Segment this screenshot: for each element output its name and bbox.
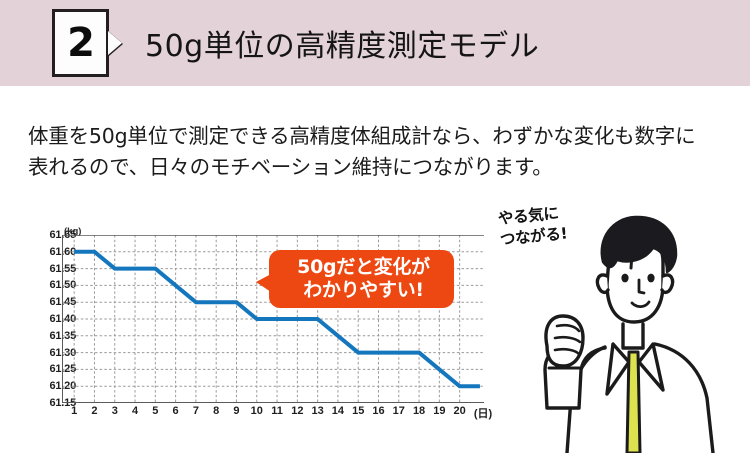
chart-x-tick: 5 [152, 405, 158, 417]
section-header-banner: 2 50g単位の高精度測定モデル [0, 0, 750, 86]
chart-x-tick: 3 [112, 405, 118, 417]
chart-callout-bubble: 50gだと変化が わかりやすい! [269, 250, 454, 308]
chart-x-tick: 9 [233, 405, 239, 417]
step-badge: 2 [52, 9, 109, 77]
chart-x-tick: 4 [132, 405, 138, 417]
callout-tail [256, 274, 271, 292]
chart-x-tick: 18 [413, 405, 425, 417]
chart-x-tick: 7 [193, 405, 199, 417]
chart-x-tick: 13 [312, 405, 324, 417]
chart-x-tick: 10 [251, 405, 263, 417]
arrow-right-icon [108, 31, 122, 55]
chart-x-tick: 6 [173, 405, 179, 417]
chart-x-axis: 1234567891011121314151617181920(日) [62, 405, 484, 423]
chart-x-tick: 17 [393, 405, 405, 417]
chart-x-tick: 19 [433, 405, 445, 417]
step-badge-number: 2 [67, 23, 94, 63]
chart-x-tick: 14 [332, 405, 344, 417]
chart-x-tick: 16 [372, 405, 384, 417]
chart-x-tick: 11 [271, 405, 283, 417]
lead-paragraph: 体重を50g単位で測定できる高精度体組成計なら、わずかな変化も数字に表れるので、… [28, 121, 700, 183]
chart-x-tick: 2 [91, 405, 97, 417]
speech-caption: やる気に つながる! [497, 203, 568, 251]
step-badge-box: 2 [52, 9, 109, 77]
callout-line-1: 50gだと変化が [297, 256, 430, 279]
chart-x-tick: 20 [454, 405, 466, 417]
page-title: 50g単位の高精度測定モデル [145, 21, 539, 65]
chart-x-tick: 15 [352, 405, 364, 417]
chart-x-tick: 12 [291, 405, 303, 417]
chart-x-tick: 1 [71, 405, 77, 417]
callout-line-2: わかりやすい! [303, 279, 424, 302]
chart-x-tick: 8 [213, 405, 219, 417]
